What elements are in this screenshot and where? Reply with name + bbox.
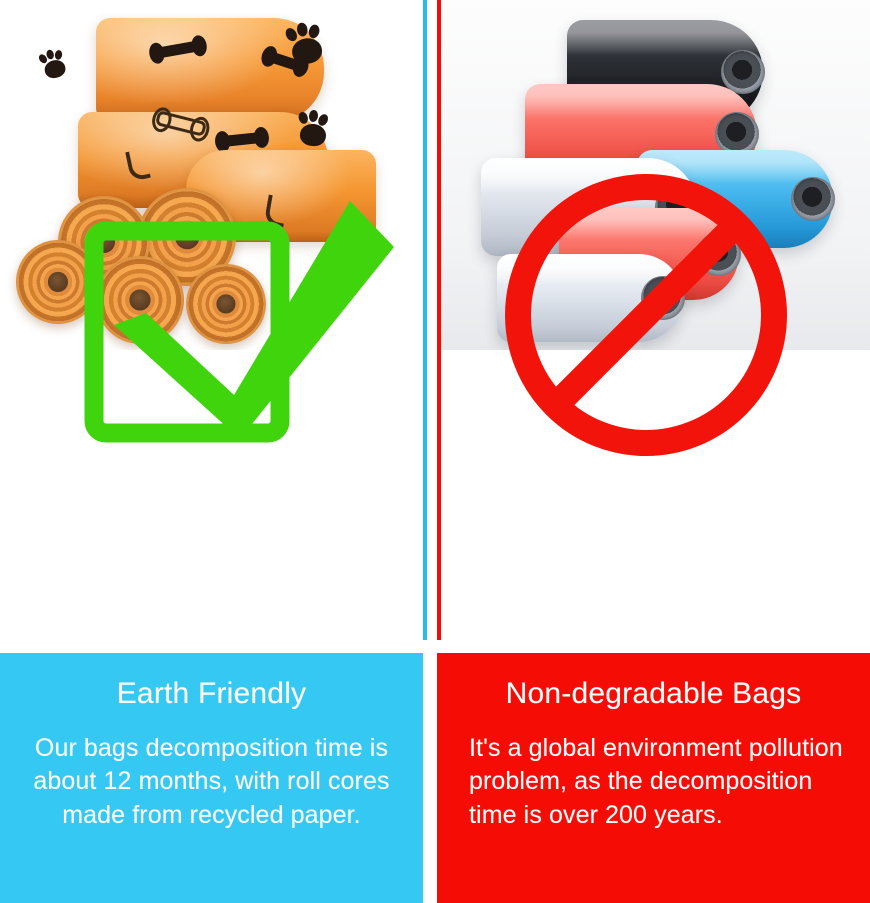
earth-friendly-heading: Earth Friendly — [22, 677, 401, 710]
left-column-earth-friendly: Earth Friendly Our bags decomposition ti… — [0, 0, 423, 903]
right-media-stack — [437, 0, 870, 640]
roll-core-spiral — [96, 256, 184, 344]
paw-print-icon — [43, 58, 67, 80]
bone-print-icon — [222, 132, 263, 147]
non-degradable-body-text: It's a global environment pollution prob… — [459, 732, 848, 832]
roll-core-spiral — [186, 264, 266, 344]
comparison-infographic: Earth Friendly Our bags decomposition ti… — [0, 0, 870, 903]
non-degradable-text-panel: Non-degradable Bags It's a global enviro… — [437, 653, 870, 903]
photo-orange-bag-rolls — [0, 0, 423, 350]
right-column-non-degradable: Non-degradable Bags It's a global enviro… — [437, 0, 870, 903]
photo-plastic-bag-rolls — [441, 0, 870, 350]
left-media-stack — [0, 0, 427, 640]
roll-core-endcap — [791, 177, 835, 221]
non-degradable-heading: Non-degradable Bags — [459, 677, 848, 710]
roll-core-endcap — [641, 276, 685, 320]
earth-friendly-body-text: Our bags decomposition time is about 12 … — [22, 732, 401, 832]
roll-core-endcap — [721, 50, 765, 94]
roll-core-endcap — [697, 232, 741, 276]
earth-friendly-text-panel: Earth Friendly Our bags decomposition ti… — [0, 653, 423, 903]
roll-core-spiral — [16, 240, 100, 324]
plastic-roll-white — [497, 254, 683, 342]
